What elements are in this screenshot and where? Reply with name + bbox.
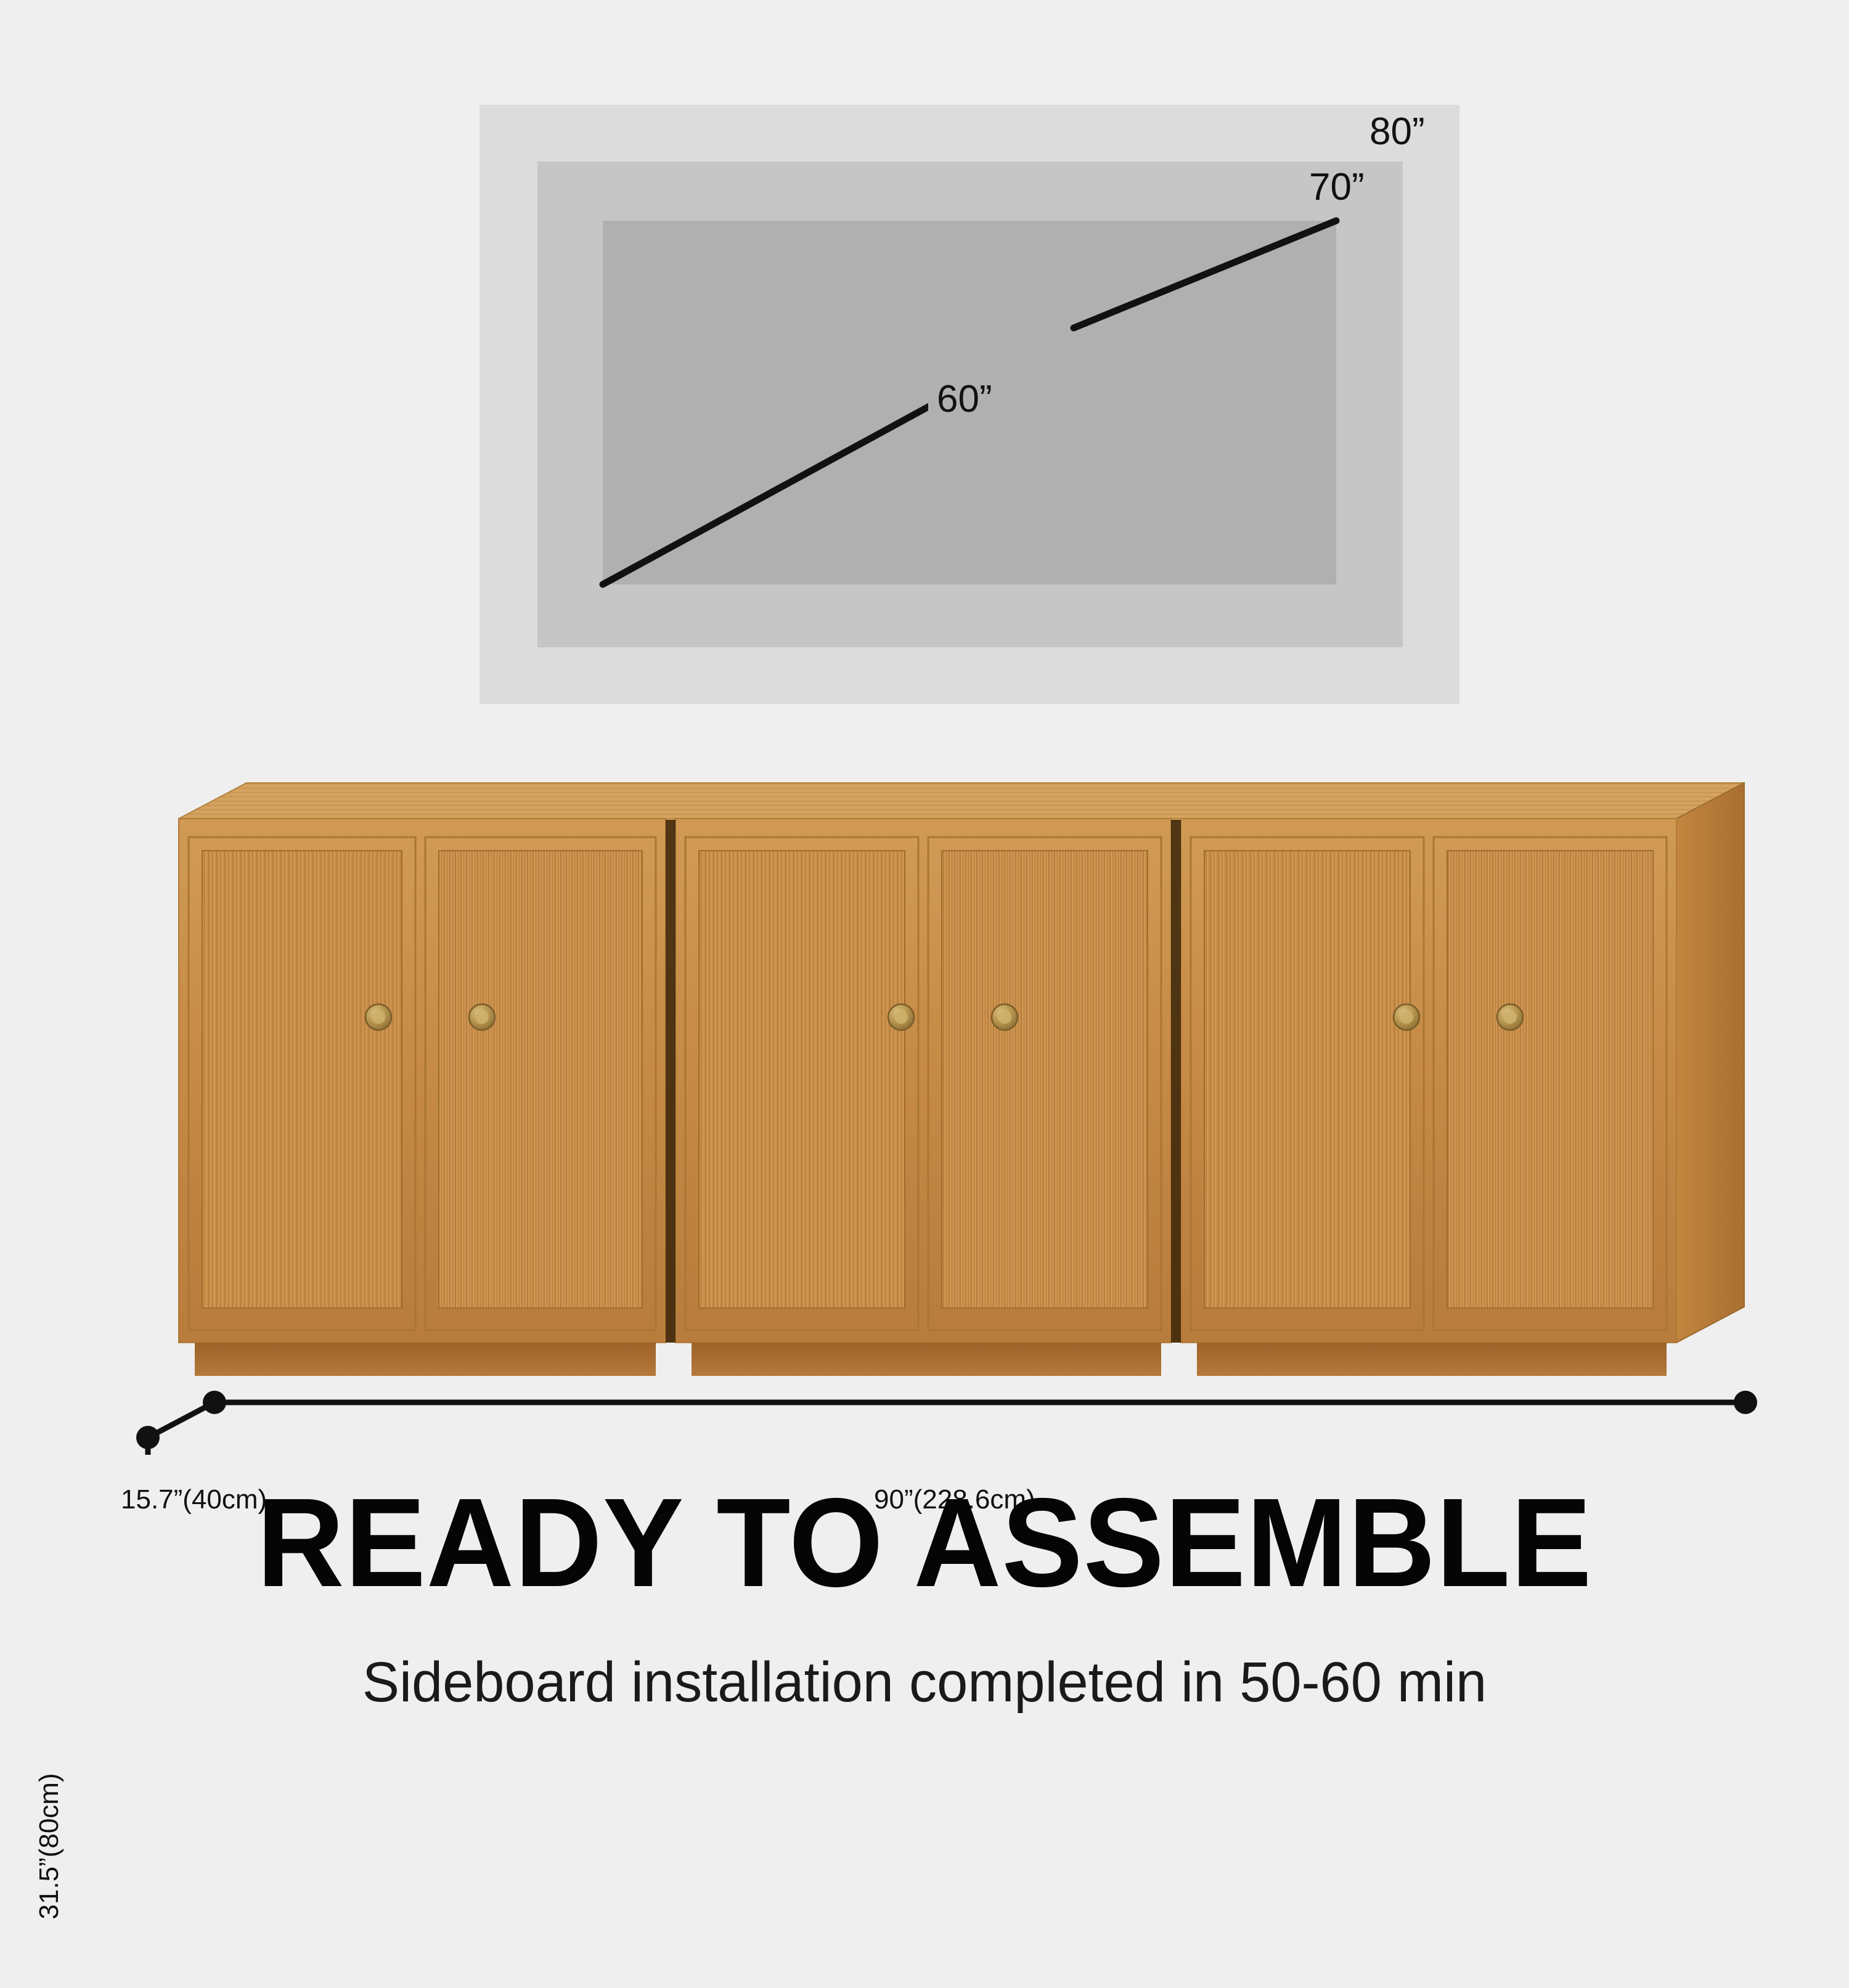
- door-knob: [888, 1004, 914, 1030]
- dimension-label-height: 31.5”(80cm): [34, 1704, 65, 1988]
- dimension-lines: [148, 1402, 1745, 1455]
- footer-text-block: READY TO ASSEMBLE Sideboard installation…: [0, 1479, 1849, 1715]
- tv-size-label-70: 70”: [1309, 165, 1365, 209]
- door-knob: [1497, 1004, 1523, 1030]
- door-knob: [469, 1004, 495, 1030]
- door-knob: [992, 1004, 1018, 1030]
- tv-size-comparison-diagram: 80” 70” 60”: [0, 0, 1849, 727]
- door-knob: [1394, 1004, 1419, 1030]
- door-knob: [365, 1004, 391, 1030]
- tv-size-label-60: 60”: [928, 377, 1001, 421]
- tv-size-label-80: 80”: [1369, 110, 1425, 153]
- headline-ready-to-assemble: READY TO ASSEMBLE: [37, 1479, 1812, 1606]
- subheadline-install-time: Sideboard installation completed in 50-6…: [18, 1650, 1831, 1715]
- sideboard-drawing: [0, 727, 1849, 1455]
- sideboard-illustration-section: 15.7”(40cm) 90”(228.6cm) 31.5”(80cm): [0, 727, 1849, 1455]
